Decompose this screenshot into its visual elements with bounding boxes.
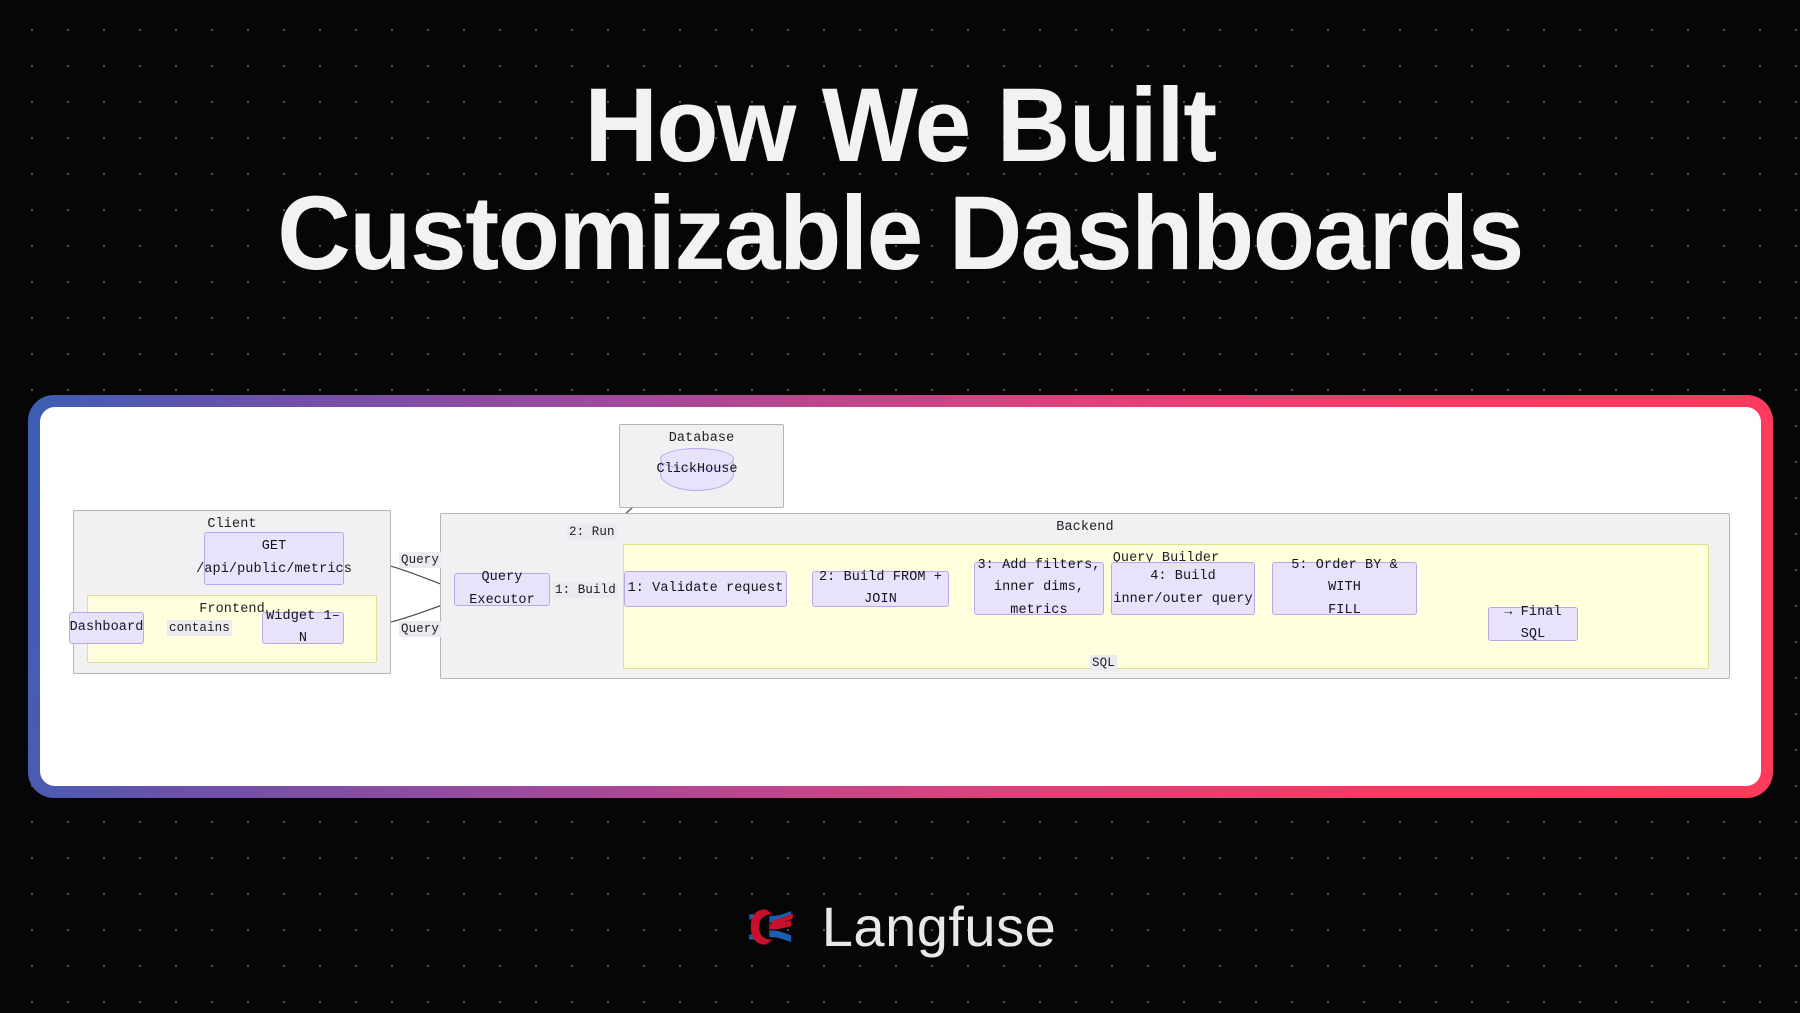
node-dashboard[interactable]: Dashboard: [69, 612, 144, 644]
node-step-4-line-2: inner/outer query: [1113, 589, 1252, 611]
title-line-2: Customizable Dashboards: [27, 180, 1773, 288]
gradient-card: Client Frontend Database Backend Query B…: [28, 395, 1773, 798]
node-step-5-line-1: 5: Order BY & WITH: [1273, 555, 1416, 600]
node-step-4-line-1: 4: Build: [1150, 566, 1216, 588]
node-get-endpoint[interactable]: GET /api/public/metrics: [204, 532, 344, 585]
node-query-executor[interactable]: Query Executor: [454, 573, 550, 606]
cluster-database-label: Database: [620, 431, 783, 446]
edge-label-run: 2: Run: [567, 524, 617, 540]
cluster-client-label: Client: [74, 517, 390, 532]
node-dashboard-label: Dashboard: [70, 617, 144, 639]
node-step-3-filters[interactable]: 3: Add filters, inner dims, metrics: [974, 562, 1104, 615]
poster-title: How We Built Customizable Dashboards: [0, 72, 1800, 288]
node-step-5-order-fill[interactable]: 5: Order BY & WITH FILL: [1272, 562, 1417, 615]
node-step-2-from-join[interactable]: 2: Build FROM + JOIN: [812, 571, 949, 607]
edge-label-query-bottom: Query: [399, 621, 441, 637]
node-step-3-line-2: inner dims, metrics: [975, 577, 1103, 622]
node-step-1-label: 1: Validate request: [628, 578, 784, 600]
node-get-method: GET: [262, 536, 287, 558]
node-clickhouse-label: ClickHouse: [657, 462, 738, 477]
node-final-sql-label: → Final SQL: [1489, 602, 1577, 647]
node-step-5-line-2: FILL: [1328, 600, 1361, 622]
card-inner-surface: Client Frontend Database Backend Query B…: [40, 407, 1761, 786]
langfuse-wordmark: Langfuse: [822, 899, 1056, 955]
node-clickhouse-database[interactable]: ClickHouse: [660, 448, 734, 491]
node-step-3-line-1: 3: Add filters,: [977, 555, 1100, 577]
cluster-backend-label: Backend: [441, 520, 1729, 535]
node-widget[interactable]: Widget 1–N: [262, 612, 344, 644]
edge-label-sql: SQL: [1090, 655, 1117, 671]
poster-root: How We Built Customizable Dashboards: [0, 0, 1800, 1013]
architecture-diagram: Client Frontend Database Backend Query B…: [40, 407, 1761, 786]
node-query-executor-label: Query Executor: [455, 567, 549, 612]
node-step-1-validate[interactable]: 1: Validate request: [624, 571, 787, 607]
node-widget-label: Widget 1–N: [263, 606, 343, 651]
footer-brand: Langfuse: [0, 899, 1800, 955]
edge-label-contains: contains: [167, 620, 232, 636]
node-step-4-inner-outer[interactable]: 4: Build inner/outer query: [1111, 562, 1255, 615]
node-step-2-label: 2: Build FROM + JOIN: [813, 567, 948, 612]
node-final-sql[interactable]: → Final SQL: [1488, 607, 1578, 641]
edge-label-build: 1: Build: [553, 582, 618, 598]
edge-label-query-top: Query: [399, 552, 441, 568]
node-get-path: /api/public/metrics: [196, 559, 352, 581]
title-line-1: How We Built: [27, 72, 1773, 180]
langfuse-logo-icon: [744, 906, 798, 948]
